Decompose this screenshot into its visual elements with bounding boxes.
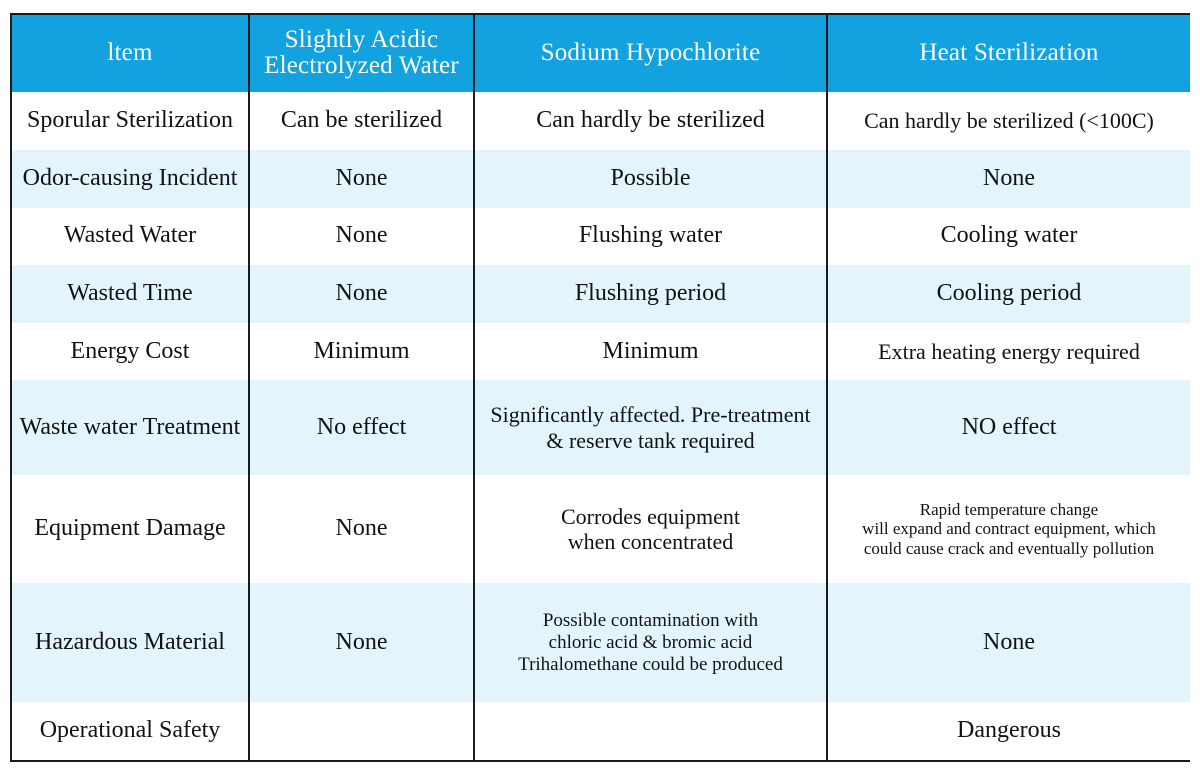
table-row: Sporular SterilizationCan be sterilizedC… (12, 92, 1190, 150)
cell-text-line: None (256, 515, 467, 543)
cell-text-line: when concentrated (481, 529, 820, 555)
cell-text-line: Wasted Time (18, 280, 242, 308)
cell-text-line: Operational Safety (18, 717, 242, 745)
table-row: Wasted WaterNoneFlushing waterCooling wa… (12, 208, 1190, 266)
cell-text-line: Waste water Treatment (18, 414, 242, 442)
cell-text-line: Heat Sterilization (834, 40, 1184, 67)
cell-text-line: Trihalomethane could be produced (481, 654, 820, 676)
cell-text-line: Cooling water (834, 222, 1184, 250)
table-cell-item: Hazardous Material (12, 583, 249, 702)
cell-text-line: Sporular Sterilization (18, 107, 242, 135)
cell-text-line: None (834, 165, 1184, 193)
table-cell-heat: Extra heating energy required (827, 323, 1190, 381)
table-row: Operational SafetyDangerous (12, 702, 1190, 760)
cell-text-line: Significantly affected. Pre-treatment (481, 402, 820, 428)
cell-text-line: Corrodes equipment (481, 504, 820, 530)
cell-text-line: Can hardly be sterilized (<100C) (834, 108, 1184, 134)
cell-text-line: Slightly Acidic (256, 27, 467, 54)
cell-empty (256, 731, 467, 732)
cell-text-line: Flushing period (481, 280, 820, 308)
table-cell-saew (249, 702, 474, 760)
cell-text-line: Minimum (256, 338, 467, 366)
table-cell-item: Odor-causing Incident (12, 150, 249, 208)
table-cell-heat: Cooling water (827, 208, 1190, 266)
cell-text-line: chloric acid & bromic acid (481, 632, 820, 654)
table-row: Odor-causing IncidentNonePossibleNone (12, 150, 1190, 208)
table-cell-saew: None (249, 475, 474, 583)
cell-text-line: & reserve tank required (481, 428, 820, 454)
table-cell-heat: None (827, 150, 1190, 208)
table-cell-naocl: Corrodes equipmentwhen concentrated (474, 475, 827, 583)
table-cell-saew: None (249, 150, 474, 208)
table-cell-item: Energy Cost (12, 323, 249, 381)
header-row: ltem Slightly AcidicElectrolyzed Water S… (12, 15, 1190, 92)
table-cell-item: Operational Safety (12, 702, 249, 760)
cell-text-line: None (256, 222, 467, 250)
table-cell-naocl: Flushing water (474, 208, 827, 266)
table-cell-heat: Rapid temperature changewill expand and … (827, 475, 1190, 583)
table-cell-item: Wasted Water (12, 208, 249, 266)
cell-text-line: Sodium Hypochlorite (481, 40, 820, 67)
table-cell-saew: Can be sterilized (249, 92, 474, 150)
table-cell-heat: Cooling period (827, 265, 1190, 323)
cell-text-line: Can hardly be sterilized (481, 107, 820, 135)
cell-text-line: Cooling period (834, 280, 1184, 308)
table-cell-naocl: Significantly affected. Pre-treatment& r… (474, 380, 827, 475)
cell-text-line: Flushing water (481, 222, 820, 250)
table-cell-item: Sporular Sterilization (12, 92, 249, 150)
cell-text-line: NO effect (834, 414, 1184, 442)
column-header-slightly-acidic-electrolyzed-water: Slightly AcidicElectrolyzed Water (249, 15, 474, 92)
cell-text-line: Odor-causing Incident (18, 165, 242, 193)
column-header-sodium-hypochlorite: Sodium Hypochlorite (474, 15, 827, 92)
cell-text-line: Energy Cost (18, 338, 242, 366)
table-cell-naocl: Minimum (474, 323, 827, 381)
table-cell-heat: None (827, 583, 1190, 702)
table-cell-item: Equipment Damage (12, 475, 249, 583)
table-cell-saew: None (249, 583, 474, 702)
table-cell-naocl: Can hardly be sterilized (474, 92, 827, 150)
column-header-heat-sterilization: Heat Sterilization (827, 15, 1190, 92)
table-cell-heat: Dangerous (827, 702, 1190, 760)
table-header: ltem Slightly AcidicElectrolyzed Water S… (12, 15, 1190, 92)
cell-text-line: Equipment Damage (18, 515, 242, 543)
table-cell-saew: None (249, 208, 474, 266)
table-row: Waste water TreatmentNo effectSignifican… (12, 380, 1190, 475)
table-cell-saew: Minimum (249, 323, 474, 381)
comparison-table: ltem Slightly AcidicElectrolyzed Water S… (12, 15, 1190, 760)
cell-text-line: Possible (481, 165, 820, 193)
table-row: Wasted TimeNoneFlushing periodCooling pe… (12, 265, 1190, 323)
table-cell-naocl: Flushing period (474, 265, 827, 323)
table-cell-saew: No effect (249, 380, 474, 475)
cell-text-line: Can be sterilized (256, 107, 467, 135)
table-cell-saew: None (249, 265, 474, 323)
cell-text-line: ltem (18, 40, 242, 67)
table-cell-item: Wasted Time (12, 265, 249, 323)
table-cell-item: Waste water Treatment (12, 380, 249, 475)
table-row: Energy CostMinimumMinimumExtra heating e… (12, 323, 1190, 381)
table-cell-naocl (474, 702, 827, 760)
comparison-table-container: ltem Slightly AcidicElectrolyzed Water S… (10, 13, 1190, 762)
cell-text-line: None (256, 280, 467, 308)
table-cell-heat: NO effect (827, 380, 1190, 475)
cell-text-line: None (834, 629, 1184, 657)
cell-text-line: Hazardous Material (18, 629, 242, 657)
cell-text-line: Minimum (481, 338, 820, 366)
table-cell-naocl: Possible (474, 150, 827, 208)
cell-text-line: Wasted Water (18, 222, 242, 250)
cell-text-line: None (256, 629, 467, 657)
table-row: Equipment DamageNoneCorrodes equipmentwh… (12, 475, 1190, 583)
cell-text-line: None (256, 165, 467, 193)
table-cell-naocl: Possible contamination withchloric acid … (474, 583, 827, 702)
cell-text-line: No effect (256, 414, 467, 442)
table-body: Sporular SterilizationCan be sterilizedC… (12, 92, 1190, 761)
table-row: Hazardous MaterialNonePossible contamina… (12, 583, 1190, 702)
cell-text-line: Extra heating energy required (834, 339, 1184, 365)
cell-text-line: will expand and contract equipment, whic… (834, 519, 1184, 539)
cell-text-line: could cause crack and eventually polluti… (834, 539, 1184, 559)
cell-text-line: Possible contamination with (481, 610, 820, 632)
cell-empty (481, 731, 820, 732)
cell-text-line: Dangerous (834, 717, 1184, 745)
table-cell-heat: Can hardly be sterilized (<100C) (827, 92, 1190, 150)
cell-text-line: Rapid temperature change (834, 500, 1184, 520)
column-header-item: ltem (12, 15, 249, 92)
cell-text-line: Electrolyzed Water (256, 53, 467, 80)
